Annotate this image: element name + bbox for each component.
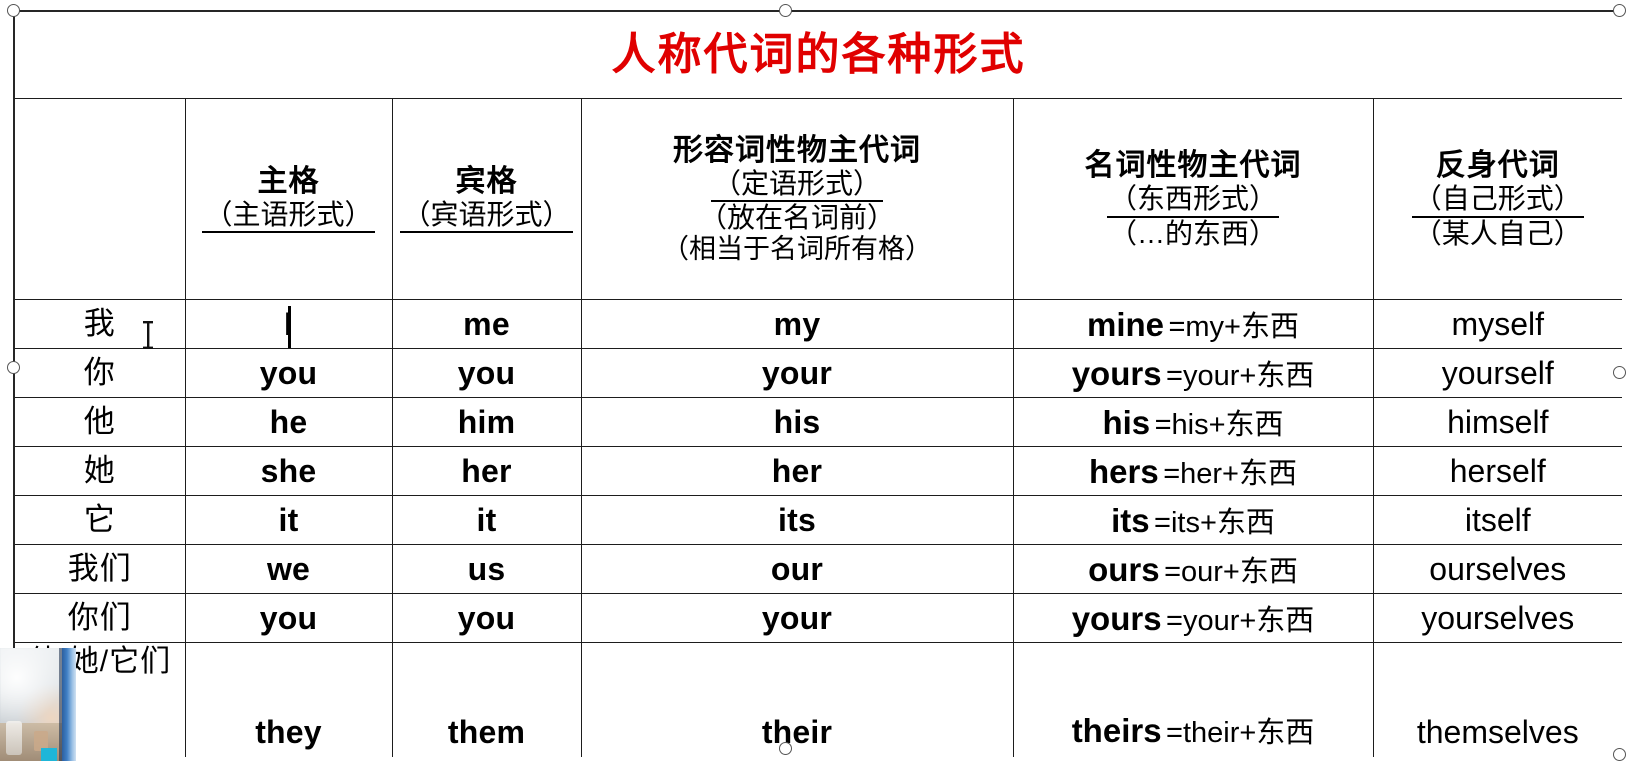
cell-possessive-adjective[interactable]: our xyxy=(581,545,1013,594)
possessive-adjective-value: his xyxy=(774,404,821,440)
objective-value: us xyxy=(468,551,506,587)
cell-person[interactable]: 你们 xyxy=(15,594,185,643)
cell-possessive-pronoun[interactable]: his =his+东西 xyxy=(1013,398,1373,447)
person-label: 它 xyxy=(84,502,116,537)
reflexive-value: himself xyxy=(1447,404,1548,440)
possessive-pronoun-value: hers xyxy=(1089,453,1159,490)
subjective-value: she xyxy=(261,453,317,489)
objective-value: you xyxy=(458,355,516,391)
cell-reflexive[interactable]: yourselves xyxy=(1373,594,1622,643)
cell-person[interactable]: 它 xyxy=(15,496,185,545)
objective-value: him xyxy=(458,404,516,440)
cell-reflexive[interactable]: yourself xyxy=(1373,349,1622,398)
table-row: 他 he him his his =his+东西 himself xyxy=(15,398,1622,447)
cell-possessive-pronoun[interactable]: its =its+东西 xyxy=(1013,496,1373,545)
objective-value: them xyxy=(448,714,525,750)
cell-objective[interactable]: him xyxy=(392,398,581,447)
cell-possessive-pronoun[interactable]: ours =our+东西 xyxy=(1013,545,1373,594)
camera-preview-blue-strip xyxy=(62,648,76,761)
pronoun-table[interactable]: 人称代词的各种形式 主格 （主语形式） 宾格 （宾语形式） 形容 xyxy=(15,12,1622,757)
page-title: 人称代词的各种形式 xyxy=(612,30,1026,79)
cell-reflexive[interactable]: itself xyxy=(1373,496,1622,545)
reflexive-value: myself xyxy=(1452,306,1544,342)
cell-reflexive[interactable]: myself xyxy=(1373,300,1622,349)
possessive-adjective-value: your xyxy=(762,600,832,636)
objective-value: me xyxy=(463,306,510,342)
header-sub-subjective: （主语形式） xyxy=(202,199,374,233)
resize-handle-top-right[interactable] xyxy=(1613,4,1626,17)
cell-possessive-adjective[interactable]: her xyxy=(581,447,1013,496)
subjective-value: it xyxy=(279,502,299,538)
text-caret xyxy=(288,306,291,348)
possessive-pronoun-formula: =its+东西 xyxy=(1154,507,1275,539)
table-row: 你们 you you your yours =your+东西 yourselve… xyxy=(15,594,1622,643)
header-sub-reflexive-2: （某人自己） xyxy=(1376,218,1621,249)
slide-canvas: 人称代词的各种形式 主格 （主语形式） 宾格 （宾语形式） 形容 xyxy=(0,0,1631,761)
cell-person[interactable]: 你 xyxy=(15,349,185,398)
pronoun-table-object[interactable]: 人称代词的各种形式 主格 （主语形式） 宾格 （宾语形式） 形容 xyxy=(13,10,1620,755)
objective-value: you xyxy=(458,600,516,636)
possessive-pronoun-formula: =my+东西 xyxy=(1168,311,1299,343)
person-label: 你们 xyxy=(68,600,132,635)
resize-handle-top-left[interactable] xyxy=(7,4,20,17)
subjective-value: he xyxy=(270,404,308,440)
header-cell-subjective[interactable]: 主格 （主语形式） xyxy=(185,99,392,300)
header-title-objective: 宾格 xyxy=(395,165,579,199)
cell-subjective[interactable]: you xyxy=(185,594,392,643)
cell-possessive-pronoun[interactable]: hers =her+东西 xyxy=(1013,447,1373,496)
cell-objective[interactable]: you xyxy=(392,349,581,398)
objective-value: her xyxy=(461,453,511,489)
camera-preview-object-a xyxy=(6,721,22,755)
header-title-possessive-pronoun: 名词性物主代词 xyxy=(1016,149,1371,183)
camera-preview-overlay[interactable] xyxy=(0,648,76,761)
cell-possessive-adjective[interactable]: my xyxy=(581,300,1013,349)
person-label: 你 xyxy=(84,355,116,390)
cell-objective[interactable]: them xyxy=(392,643,581,758)
cell-subjective[interactable]: you xyxy=(185,349,392,398)
cell-possessive-pronoun[interactable]: yours =your+东西 xyxy=(1013,594,1373,643)
cell-subjective[interactable]: they xyxy=(185,643,392,758)
cell-subjective[interactable]: we xyxy=(185,545,392,594)
table-header-row: 主格 （主语形式） 宾格 （宾语形式） 形容词性物主代词 （定语形式） （放在名… xyxy=(15,99,1622,300)
header-cell-person[interactable] xyxy=(15,99,185,300)
person-label: 她 xyxy=(84,453,116,488)
reflexive-value: ourselves xyxy=(1429,551,1566,587)
cell-possessive-adjective[interactable]: their xyxy=(581,643,1013,758)
header-title-subjective: 主格 xyxy=(188,165,390,199)
reflexive-value: yourselves xyxy=(1421,600,1574,636)
header-cell-objective[interactable]: 宾格 （宾语形式） xyxy=(392,99,581,300)
possessive-pronoun-formula: =their+东西 xyxy=(1166,717,1314,749)
objective-value: it xyxy=(477,502,497,538)
table-row: 他/她/它们 they them their theirs =their+东西 … xyxy=(15,643,1622,758)
header-sub-possessive-adjective-2: （放在名词前） xyxy=(584,202,1011,233)
table-row: 我 I me my mine =my+东西 myself xyxy=(15,300,1622,349)
possessive-pronoun-value: yours xyxy=(1072,355,1162,392)
possessive-pronoun-value: mine xyxy=(1087,306,1164,343)
cell-objective[interactable]: me xyxy=(392,300,581,349)
header-title-possessive-adjective: 形容词性物主代词 xyxy=(584,134,1011,168)
cell-objective[interactable]: you xyxy=(392,594,581,643)
resize-handle-bottom-center[interactable] xyxy=(779,742,792,755)
title-cell[interactable]: 人称代词的各种形式 xyxy=(15,12,1622,99)
resize-handle-middle-right[interactable] xyxy=(1613,366,1626,379)
cell-person[interactable]: 她 xyxy=(15,447,185,496)
resize-handle-middle-left[interactable] xyxy=(7,361,20,374)
cell-subjective[interactable]: it xyxy=(185,496,392,545)
header-sub-possessive-adjective-3: （相当于名词所有格） xyxy=(584,234,1011,264)
subjective-value: they xyxy=(255,714,322,750)
cell-subjective[interactable]: he xyxy=(185,398,392,447)
person-label: 我们 xyxy=(68,551,132,586)
cell-objective[interactable]: us xyxy=(392,545,581,594)
header-title-reflexive: 反身代词 xyxy=(1376,149,1621,183)
cell-possessive-pronoun[interactable]: mine =my+东西 xyxy=(1013,300,1373,349)
possessive-pronoun-value: theirs xyxy=(1072,712,1162,749)
possessive-pronoun-value: ours xyxy=(1088,551,1160,588)
header-sub-possessive-pronoun-2: （…的东西） xyxy=(1016,218,1371,249)
possessive-pronoun-formula: =his+东西 xyxy=(1155,409,1284,441)
resize-handle-bottom-right[interactable] xyxy=(1613,748,1626,761)
cell-reflexive[interactable]: himself xyxy=(1373,398,1622,447)
subjective-value: we xyxy=(267,551,310,587)
person-label: 他 xyxy=(84,404,116,439)
cell-reflexive[interactable]: themselves xyxy=(1373,643,1622,758)
possessive-adjective-value: your xyxy=(762,355,832,391)
cell-person[interactable]: 他 xyxy=(15,398,185,447)
cell-person[interactable]: 我们 xyxy=(15,545,185,594)
possessive-pronoun-value: yours xyxy=(1072,600,1162,637)
header-cell-reflexive[interactable]: 反身代词 （自己形式） （某人自己） xyxy=(1373,99,1622,300)
header-cell-possessive-adjective[interactable]: 形容词性物主代词 （定语形式） （放在名词前） （相当于名词所有格） xyxy=(581,99,1013,300)
table-row: 它 it it its its =its+东西 itself xyxy=(15,496,1622,545)
possessive-pronoun-value: its xyxy=(1111,502,1150,539)
reflexive-value: yourself xyxy=(1442,355,1554,391)
camera-preview-object-c xyxy=(41,748,57,761)
possessive-adjective-value: its xyxy=(778,502,816,538)
table-row: 我们 we us our ours =our+东西 ourselves xyxy=(15,545,1622,594)
cell-possessive-pronoun[interactable]: yours =your+东西 xyxy=(1013,349,1373,398)
possessive-pronoun-formula: =your+东西 xyxy=(1166,360,1314,392)
subjective-value: you xyxy=(260,355,318,391)
cell-reflexive[interactable]: herself xyxy=(1373,447,1622,496)
possessive-adjective-value: their xyxy=(762,714,832,750)
cell-possessive-adjective[interactable]: your xyxy=(581,349,1013,398)
possessive-pronoun-formula: =our+东西 xyxy=(1164,556,1298,588)
cell-objective[interactable]: it xyxy=(392,496,581,545)
table-row: 她 she her her hers =her+东西 herself xyxy=(15,447,1622,496)
cell-objective[interactable]: her xyxy=(392,447,581,496)
cell-reflexive[interactable]: ourselves xyxy=(1373,545,1622,594)
subjective-value: you xyxy=(260,600,318,636)
possessive-adjective-value: my xyxy=(774,306,821,342)
resize-handle-top-center[interactable] xyxy=(779,4,792,17)
header-cell-possessive-pronoun[interactable]: 名词性物主代词 （东西形式） （…的东西） xyxy=(1013,99,1373,300)
i-beam-cursor xyxy=(141,320,155,350)
possessive-pronoun-value: his xyxy=(1102,404,1150,441)
person-label: 我 xyxy=(84,306,116,341)
header-sub-reflexive-1: （自己形式） xyxy=(1412,183,1584,217)
cell-possessive-adjective[interactable]: his xyxy=(581,398,1013,447)
possessive-adjective-value: our xyxy=(771,551,823,587)
header-sub-objective: （宾语形式） xyxy=(400,199,572,233)
header-sub-possessive-pronoun-1: （东西形式） xyxy=(1107,183,1279,217)
title-row: 人称代词的各种形式 xyxy=(15,12,1622,99)
possessive-pronoun-formula: =her+东西 xyxy=(1163,458,1297,490)
cell-possessive-adjective[interactable]: your xyxy=(581,594,1013,643)
reflexive-value: themselves xyxy=(1417,714,1579,750)
possessive-pronoun-formula: =your+东西 xyxy=(1166,605,1314,637)
possessive-adjective-value: her xyxy=(772,453,822,489)
reflexive-value: herself xyxy=(1450,453,1546,489)
cell-possessive-adjective[interactable]: its xyxy=(581,496,1013,545)
cell-possessive-pronoun[interactable]: theirs =their+东西 xyxy=(1013,643,1373,758)
reflexive-value: itself xyxy=(1465,502,1531,538)
table-row: 你 you you your yours =your+东西 yourself xyxy=(15,349,1622,398)
cell-person[interactable]: 我 xyxy=(15,300,185,349)
cell-subjective[interactable]: she xyxy=(185,447,392,496)
header-sub-possessive-adjective-1: （定语形式） xyxy=(711,168,883,202)
